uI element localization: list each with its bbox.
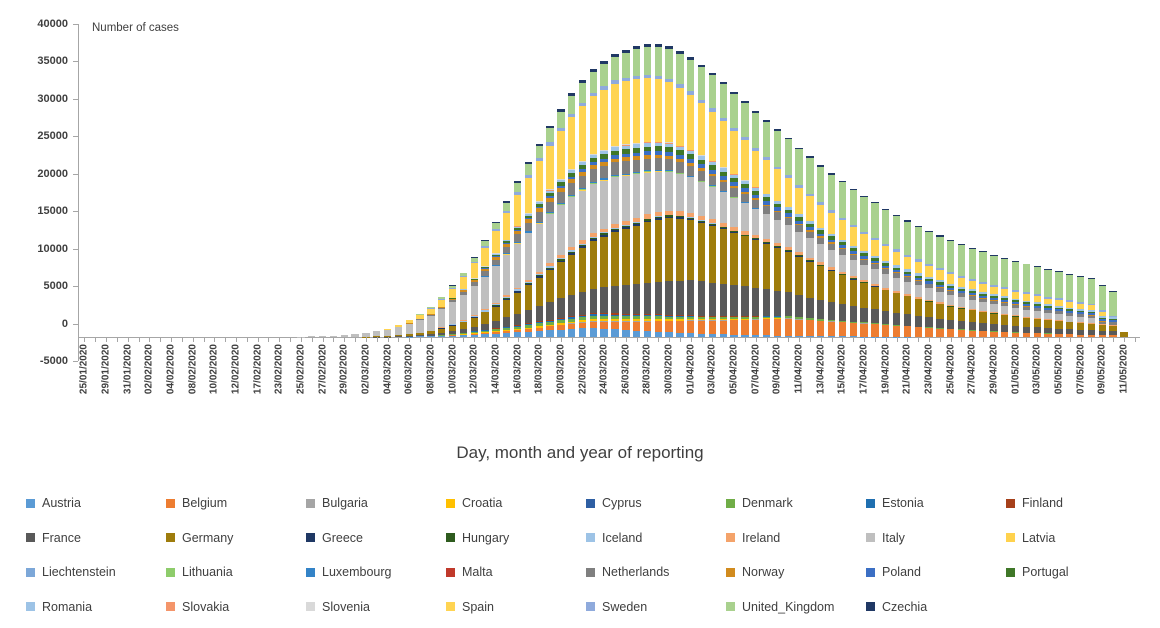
- legend-item-poland[interactable]: Poland: [866, 565, 1006, 579]
- legend-item-belgium[interactable]: Belgium: [166, 496, 306, 510]
- bar-segment: [828, 302, 835, 320]
- x-label-cell: [588, 344, 599, 424]
- x-label-cell: [891, 344, 902, 424]
- bar-segment: [893, 313, 900, 325]
- x-tick-mark: [512, 337, 523, 342]
- x-tick-mark: [1119, 337, 1130, 342]
- legend-item-bulgaria[interactable]: Bulgaria: [306, 496, 446, 510]
- bar-column: [122, 24, 133, 337]
- legend-item-germany[interactable]: Germany: [166, 531, 306, 545]
- x-tick-mark: [361, 337, 372, 342]
- legend-item-sweden[interactable]: Sweden: [586, 600, 726, 614]
- legend-label: United_Kingdom: [742, 600, 834, 614]
- x-tick-label: 04/02/2020: [166, 344, 177, 394]
- legend-item-luxembourg[interactable]: Luxembourg: [306, 565, 446, 579]
- x-label-cell: [90, 344, 101, 424]
- bar-stack: [676, 51, 683, 337]
- legend-item-finland[interactable]: Finland: [1006, 496, 1146, 510]
- x-tick-mark: [978, 337, 989, 342]
- bar-segment: [600, 329, 607, 337]
- bar-segment: [1077, 323, 1084, 330]
- bar-column: [231, 24, 242, 337]
- x-label-cell: [610, 344, 621, 424]
- x-tick-mark: [599, 337, 610, 342]
- x-tick-mark: [101, 337, 112, 342]
- bar-segment: [850, 227, 857, 245]
- bar-stack: [1077, 276, 1084, 337]
- x-tick-mark: [122, 337, 133, 342]
- bar-segment: [882, 325, 889, 336]
- legend-item-united-kingdom[interactable]: United_Kingdom: [726, 600, 866, 614]
- legend-item-austria[interactable]: Austria: [26, 496, 166, 510]
- bar-segment: [687, 166, 694, 176]
- x-label-cell: [869, 344, 880, 424]
- bar-segment: [536, 212, 543, 222]
- bar-column: [306, 24, 317, 337]
- legend-item-malta[interactable]: Malta: [446, 565, 586, 579]
- bar-column: [328, 24, 339, 337]
- legend-label: Belgium: [182, 496, 227, 510]
- bar-column: [512, 24, 523, 337]
- bar-segment: [557, 298, 564, 317]
- y-tick-mark: [73, 361, 78, 362]
- bar-segment: [503, 255, 510, 296]
- bar-column: [393, 24, 404, 337]
- bar-column: [869, 24, 880, 337]
- x-tick-mark: [750, 337, 761, 342]
- bar-segment: [806, 298, 813, 318]
- bar-segment: [730, 233, 737, 285]
- bar-segment: [676, 54, 683, 85]
- legend-item-greece[interactable]: Greece: [306, 531, 446, 545]
- bar-stack: [795, 148, 802, 338]
- bar-segment: [1023, 264, 1030, 292]
- y-axis-ticks: 4000035000300002500020000150001000050000…: [0, 0, 80, 420]
- x-label-cell: [566, 344, 577, 424]
- legend-swatch-icon: [1006, 568, 1015, 577]
- legend-item-lithuania[interactable]: Lithuania: [166, 565, 306, 579]
- legend-item-norway[interactable]: Norway: [726, 565, 866, 579]
- legend-swatch-icon: [1006, 499, 1015, 508]
- bar-segment: [676, 219, 683, 281]
- x-tick-mark: [155, 337, 166, 342]
- x-tick-mark: [956, 337, 967, 342]
- legend-label: Estonia: [882, 496, 924, 510]
- bar-segment: [795, 225, 802, 232]
- x-tick-mark: [393, 337, 404, 342]
- bar-segment: [763, 214, 770, 239]
- bar-segment: [611, 322, 618, 330]
- bar-segment: [438, 300, 445, 307]
- bar-segment: [514, 314, 521, 325]
- x-tick-mark: [740, 337, 751, 342]
- bar-segment: [785, 139, 792, 175]
- y-tick-label: -5000: [40, 355, 68, 367]
- bar-column: [361, 24, 372, 337]
- bar-segment: [893, 293, 900, 313]
- x-tick-mark: [480, 337, 491, 342]
- x-label-cell: [133, 344, 144, 424]
- bar-segment: [568, 183, 575, 195]
- bar-segment: [720, 321, 727, 335]
- bar-segment: [947, 241, 954, 272]
- bar-segment: [503, 247, 510, 254]
- bar-segment: [676, 281, 683, 315]
- bar-stack: [709, 73, 716, 337]
- x-label-cell: 16/03/2020: [512, 344, 523, 424]
- bar-column: [490, 24, 501, 337]
- legend-item-netherlands[interactable]: Netherlands: [586, 565, 726, 579]
- x-tick-mark: [869, 337, 880, 342]
- bar-column: [480, 24, 491, 337]
- legend-item-liechtenstein[interactable]: Liechtenstein: [26, 565, 166, 579]
- bar-column: [220, 24, 231, 337]
- bar-segment: [936, 319, 943, 328]
- x-tick-mark: [328, 337, 339, 342]
- bar-segment: [481, 312, 488, 323]
- x-tick-label: 12/03/2020: [469, 344, 480, 394]
- x-label-cell: [241, 344, 252, 424]
- bar-segment: [644, 222, 651, 283]
- bar-segment: [665, 172, 672, 211]
- bar-stack: [1044, 269, 1051, 337]
- bar-segment: [622, 285, 629, 314]
- bar-segment: [741, 236, 748, 286]
- bar-stack: [850, 189, 857, 337]
- x-tick-mark: [545, 337, 556, 342]
- x-tick-label: 12/02/2020: [231, 344, 242, 394]
- x-label-cell: 17/04/2020: [859, 344, 870, 424]
- bar-segment: [525, 310, 532, 323]
- bar-stack: [1109, 291, 1116, 337]
- bar-segment: [752, 209, 759, 235]
- bar-column: [404, 24, 415, 337]
- x-label-cell: 29/04/2020: [989, 344, 1000, 424]
- legend-item-iceland[interactable]: Iceland: [586, 531, 726, 545]
- bar-column: [447, 24, 458, 337]
- bar-stack: [958, 244, 965, 337]
- bar-segment: [503, 300, 510, 317]
- legend-label: Portugal: [1022, 565, 1069, 579]
- bar-segment: [514, 234, 521, 242]
- bar-segment: [525, 285, 532, 309]
- bar-column: [263, 24, 274, 337]
- bar-segment: [871, 269, 878, 283]
- legend-item-ireland[interactable]: Ireland: [726, 531, 866, 545]
- legend-item-hungary[interactable]: Hungary: [446, 531, 586, 545]
- bar-segment: [1066, 275, 1073, 301]
- bar-segment: [720, 182, 727, 191]
- bar-segment: [687, 60, 694, 92]
- legend-swatch-icon: [586, 602, 595, 611]
- bar-segment: [546, 302, 553, 319]
- bar-segment: [622, 176, 629, 221]
- bar-column: [794, 24, 805, 337]
- x-tick-label: 02/02/2020: [144, 344, 155, 394]
- bar-stack: [871, 202, 878, 337]
- bar-segment: [611, 84, 618, 146]
- x-tick-label: 25/04/2020: [945, 344, 956, 394]
- bar-stack: [904, 220, 911, 337]
- x-tick-mark: [620, 337, 631, 342]
- bar-segment: [536, 278, 543, 306]
- legend-label: Iceland: [602, 531, 642, 545]
- x-label-cell: [999, 344, 1010, 424]
- bar-segment: [925, 302, 932, 318]
- bar-segment: [546, 330, 553, 337]
- bar-segment: [915, 299, 922, 316]
- bar-segment: [676, 88, 683, 146]
- bar-segment: [687, 220, 694, 280]
- x-label-cell: [328, 344, 339, 424]
- bar-stack: [600, 61, 607, 337]
- x-label-cell: 10/03/2020: [447, 344, 458, 424]
- x-tick-mark: [631, 337, 642, 342]
- bar-column: [350, 24, 361, 337]
- bar-segment: [698, 103, 705, 155]
- x-tick-label: 04/03/2020: [382, 344, 393, 394]
- legend-item-denmark[interactable]: Denmark: [726, 496, 866, 510]
- legend-label: Finland: [1022, 496, 1063, 510]
- bar-stack: [427, 307, 434, 337]
- x-label-cell: [155, 344, 166, 424]
- bar-column: [848, 24, 859, 337]
- legend-label: Austria: [42, 496, 81, 510]
- bar-segment: [958, 309, 965, 322]
- bar-segment: [904, 282, 911, 294]
- bar-segment: [557, 192, 564, 203]
- x-tick-mark: [79, 337, 90, 342]
- bar-segment: [611, 177, 618, 224]
- bar-segment: [741, 140, 748, 180]
- bar-segment: [785, 292, 792, 315]
- bar-segment: [850, 260, 857, 276]
- bar-segment: [600, 166, 607, 179]
- bar-segment: [839, 220, 846, 240]
- x-tick-mark: [523, 337, 534, 342]
- x-tick-label: 03/04/2020: [707, 344, 718, 394]
- legend-swatch-icon: [446, 568, 455, 577]
- x-tick-label: 08/02/2020: [187, 344, 198, 394]
- legend-item-romania[interactable]: Romania: [26, 600, 166, 614]
- bar-column: [317, 24, 328, 337]
- bar-stack: [806, 156, 813, 337]
- bar-segment: [850, 306, 857, 322]
- bar-segment: [655, 282, 662, 314]
- bar-segment: [774, 248, 781, 291]
- x-tick-mark: [534, 337, 545, 342]
- legend-item-spain[interactable]: Spain: [446, 600, 586, 614]
- x-tick-mark: [371, 337, 382, 342]
- bar-segment: [557, 205, 564, 255]
- bar-segment: [525, 164, 532, 175]
- bar-segment: [514, 195, 521, 226]
- bar-stack: [503, 201, 510, 337]
- bar-segment: [546, 270, 553, 302]
- bar-segment: [785, 225, 792, 247]
- bar-segment: [893, 252, 900, 266]
- bar-column: [274, 24, 285, 337]
- legend-item-croatia[interactable]: Croatia: [446, 496, 586, 510]
- legend-item-estonia[interactable]: Estonia: [866, 496, 1006, 510]
- bar-segment: [979, 302, 986, 311]
- x-tick-mark: [610, 337, 621, 342]
- bar-segment: [904, 296, 911, 314]
- x-label-cell: 10/02/2020: [209, 344, 220, 424]
- x-label-cell: [220, 344, 231, 424]
- bar-segment: [795, 295, 802, 317]
- bar-segment: [698, 67, 705, 99]
- bar-segment: [557, 112, 564, 128]
- x-label-cell: [501, 344, 512, 424]
- bar-segment: [839, 255, 846, 272]
- x-label-cell: 05/05/2020: [1054, 344, 1065, 424]
- bar-column: [426, 24, 437, 337]
- y-tick-label: 40000: [37, 18, 68, 30]
- x-label-cell: 12/02/2020: [231, 344, 242, 424]
- bar-column: [610, 24, 621, 337]
- bar-segment: [471, 263, 478, 278]
- bar-segment: [947, 295, 954, 305]
- bar-column: [1032, 24, 1043, 337]
- bar-segment: [925, 317, 932, 327]
- bar-segment: [839, 182, 846, 217]
- bar-segment: [806, 238, 813, 258]
- x-tick-mark: [339, 337, 350, 342]
- bar-segment: [525, 178, 532, 213]
- bar-segment: [611, 286, 618, 313]
- bar-column: [111, 24, 122, 337]
- bar-stack: [774, 129, 781, 337]
- bar-segment: [828, 271, 835, 302]
- bar-segment: [665, 49, 672, 79]
- x-label-cell: [1129, 344, 1140, 424]
- bar-segment: [774, 319, 781, 336]
- x-label-cell: [393, 344, 404, 424]
- x-label-cell: [696, 344, 707, 424]
- x-tick-mark: [1021, 337, 1032, 342]
- bar-segment: [622, 322, 629, 330]
- bar-column: [989, 24, 1000, 337]
- bar-segment: [915, 262, 922, 274]
- x-label-cell: [913, 344, 924, 424]
- bar-segment: [709, 187, 716, 219]
- bar-stack: [546, 126, 553, 337]
- bar-segment: [557, 262, 564, 298]
- bar-segment: [568, 329, 575, 337]
- bar-segment: [752, 113, 759, 148]
- bar-segment: [871, 287, 878, 310]
- bar-segment: [817, 244, 824, 263]
- bar-segment: [600, 287, 607, 313]
- legend-item-slovenia[interactable]: Slovenia: [306, 600, 446, 614]
- bar-column: [685, 24, 696, 337]
- bar-segment: [925, 232, 932, 264]
- bar-segment: [568, 96, 575, 114]
- x-tick-label: 23/02/2020: [274, 344, 285, 394]
- legend-swatch-icon: [726, 568, 735, 577]
- bar-segment: [806, 196, 813, 221]
- x-tick-mark: [794, 337, 805, 342]
- bar-segment: [763, 289, 770, 316]
- bar-segment: [492, 266, 499, 303]
- bar-column: [382, 24, 393, 337]
- legend-label: Germany: [182, 531, 233, 545]
- legend-swatch-icon: [726, 602, 735, 611]
- legend-item-italy[interactable]: Italy: [866, 531, 1006, 545]
- bar-column: [675, 24, 686, 337]
- x-tick-mark: [924, 337, 935, 342]
- bar-segment: [947, 329, 954, 337]
- bar-column: [198, 24, 209, 337]
- legend-item-latvia[interactable]: Latvia: [1006, 531, 1146, 545]
- bar-segment: [590, 289, 597, 313]
- bar-column: [1075, 24, 1086, 337]
- bar-segment: [774, 220, 781, 243]
- bar-column: [1119, 24, 1130, 337]
- x-label-cell: [1043, 344, 1054, 424]
- bar-segment: [633, 79, 640, 143]
- bar-segment: [503, 213, 510, 240]
- bar-stack: [730, 92, 737, 337]
- bar-segment: [817, 167, 824, 203]
- bar-segment: [492, 231, 499, 253]
- x-tick-mark: [209, 337, 220, 342]
- bar-stack: [481, 240, 488, 337]
- bar-segment: [774, 169, 781, 200]
- bar-segment: [1109, 292, 1116, 316]
- bar-segment: [1055, 272, 1062, 298]
- x-tick-mark: [675, 337, 686, 342]
- legend-swatch-icon: [726, 499, 735, 508]
- legend-item-cyprus[interactable]: Cyprus: [586, 496, 726, 510]
- bar-stack: [492, 222, 499, 337]
- x-tick-label: 05/04/2020: [729, 344, 740, 394]
- bar-segment: [546, 214, 553, 263]
- bar-segment: [460, 277, 467, 289]
- bar-segment: [600, 90, 607, 150]
- bar-stack: [817, 165, 824, 337]
- bar-segment: [752, 200, 759, 208]
- legend-item-slovakia[interactable]: Slovakia: [166, 600, 306, 614]
- bar-segment: [969, 281, 976, 289]
- bar-segment: [665, 321, 672, 332]
- bar-segment: [633, 284, 640, 314]
- x-tick-mark: [263, 337, 274, 342]
- bar-segment: [1044, 270, 1051, 297]
- bar-segment: [958, 321, 965, 329]
- bar-segment: [850, 280, 857, 307]
- legend-swatch-icon: [306, 533, 315, 542]
- legend-item-czechia[interactable]: Czechia: [866, 600, 1006, 614]
- legend-item-portugal[interactable]: Portugal: [1006, 565, 1146, 579]
- bar-segment: [817, 205, 824, 228]
- bar-segment: [752, 151, 759, 188]
- bar-segment: [1088, 279, 1095, 304]
- x-label-cell: 13/04/2020: [815, 344, 826, 424]
- x-tick-mark: [436, 337, 447, 342]
- x-tick-mark: [837, 337, 848, 342]
- legend-item-france[interactable]: France: [26, 531, 166, 545]
- bar-column: [924, 24, 935, 337]
- bar-segment: [557, 131, 564, 179]
- x-tick-mark: [1129, 337, 1140, 342]
- x-tick-mark: [274, 337, 285, 342]
- x-tick-mark: [426, 337, 437, 342]
- x-tick-mark: [231, 337, 242, 342]
- bar-segment: [1023, 310, 1030, 317]
- bar-segment: [665, 218, 672, 281]
